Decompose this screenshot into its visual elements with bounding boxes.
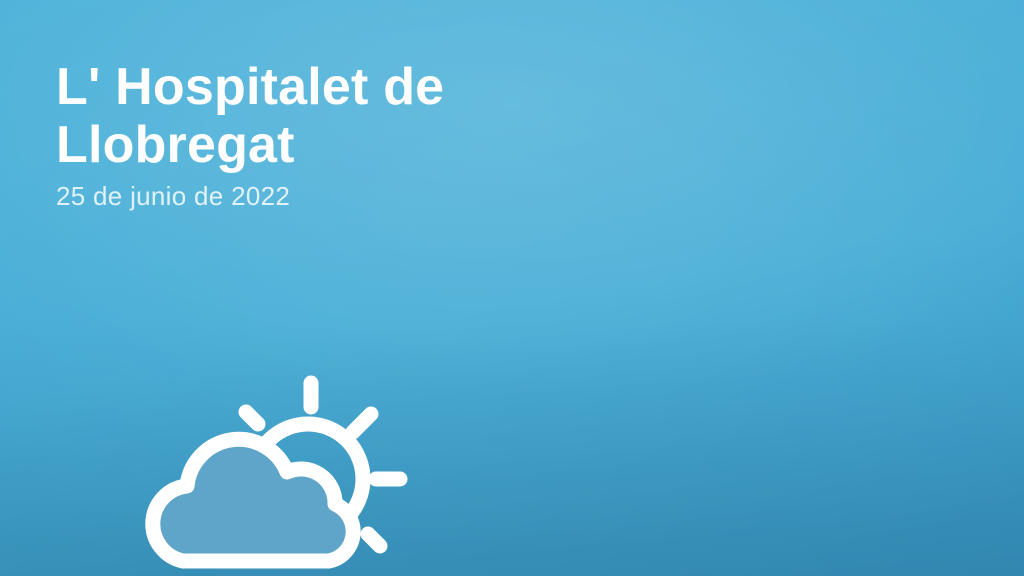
sun-ray-lower-right (368, 534, 380, 546)
cloud-body (153, 439, 353, 561)
city-title: L' Hospitalet de Llobregat (56, 58, 676, 174)
partly-cloudy-icon (138, 369, 438, 576)
sun-ray-upper-right (353, 414, 371, 432)
weather-card: L' Hospitalet de Llobregat 25 de junio d… (0, 0, 1024, 576)
sun-ray-upper-left (246, 412, 258, 424)
weather-icon (138, 369, 438, 576)
card-header: L' Hospitalet de Llobregat 25 de junio d… (56, 58, 676, 211)
forecast-date: 25 de junio de 2022 (56, 181, 676, 211)
